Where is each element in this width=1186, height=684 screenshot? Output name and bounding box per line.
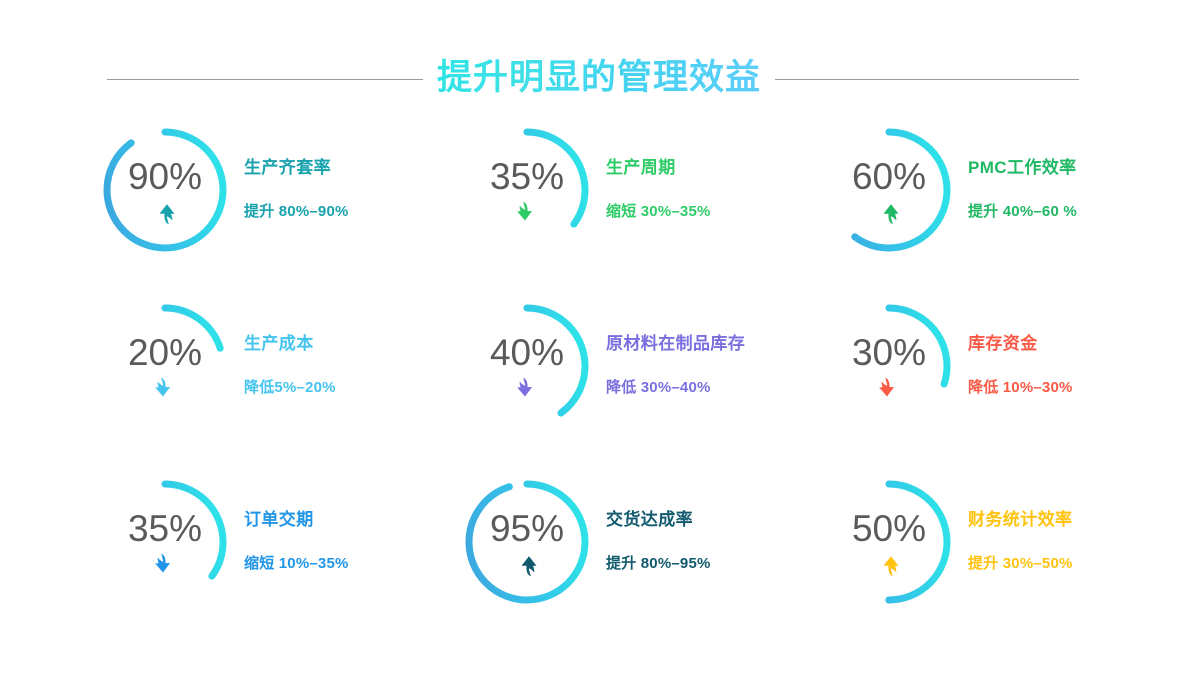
kpi-text-block: 财务统计效率 提升 30%–50% [954,470,1164,573]
kpi-gauge: 35% [462,118,592,268]
kpi-text-block: 生产成本 降低5%–20% [230,294,440,397]
arrow-up-icon [876,198,902,228]
gauge-value: 40% [490,334,564,371]
kpi-text-block: 订单交期 缩短 10%–35% [230,470,440,573]
kpi-delta: 降低 30%–40% [606,376,802,397]
page-title: 提升明显的管理效益 [437,56,761,103]
arrow-up-icon [152,198,178,228]
kpi-title: 库存资金 [968,334,1164,354]
kpi-delta: 降低 10%–30% [968,376,1164,397]
gauge-center: 30% [824,294,954,444]
gauge-center: 50% [824,470,954,620]
arrow-down-icon [514,198,540,228]
gauge-center: 95% [462,470,592,620]
gauge-value: 90% [128,158,202,195]
kpi-text-block: PMC工作效率 提升 40%–60 % [954,118,1164,221]
arrow-down-icon [514,374,540,404]
kpi-title: 生产成本 [244,334,440,354]
kpi-text-block: 原材料在制品库存 降低 30%–40% [592,294,802,397]
kpi-card: 35% 生产周期 缩短 30%–35% [462,118,802,294]
kpi-gauge: 50% [824,470,954,620]
kpi-text-block: 交货达成率 提升 80%–95% [592,470,802,573]
kpi-delta: 提升 80%–95% [606,552,802,573]
gauge-value: 35% [128,510,202,547]
arrow-down-icon [152,550,178,580]
arrow-down-icon [152,374,178,404]
kpi-delta: 缩短 10%–35% [244,552,440,573]
kpi-text-block: 生产齐套率 提升 80%–90% [230,118,440,221]
kpi-grid: 90% 生产齐套率 提升 80%–90% [0,118,1186,646]
kpi-gauge: 30% [824,294,954,444]
gauge-center: 20% [100,294,230,444]
kpi-title: 交货达成率 [606,510,802,530]
page-header: 提升明显的管理效益 [0,52,1186,106]
kpi-gauge: 90% [100,118,230,268]
kpi-title: 生产齐套率 [244,158,440,178]
kpi-text-block: 库存资金 降低 10%–30% [954,294,1164,397]
kpi-delta: 提升 40%–60 % [968,200,1164,221]
kpi-title: 订单交期 [244,510,440,530]
arrow-down-icon [876,374,902,404]
gauge-value: 60% [852,158,926,195]
kpi-text-block: 生产周期 缩短 30%–35% [592,118,802,221]
kpi-title: PMC工作效率 [968,158,1164,178]
kpi-card: 40% 原材料在制品库存 降低 30%–40% [462,294,802,470]
gauge-center: 90% [100,118,230,268]
kpi-card: 30% 库存资金 降低 10%–30% [824,294,1164,470]
kpi-card: 20% 生产成本 降低5%–20% [100,294,440,470]
kpi-gauge: 40% [462,294,592,444]
kpi-delta: 提升 30%–50% [968,552,1164,573]
gauge-center: 35% [100,470,230,620]
kpi-title: 生产周期 [606,158,802,178]
kpi-gauge: 95% [462,470,592,620]
kpi-delta: 缩短 30%–35% [606,200,802,221]
gauge-center: 60% [824,118,954,268]
kpi-title: 原材料在制品库存 [606,334,802,354]
kpi-gauge: 20% [100,294,230,444]
gauge-value: 35% [490,158,564,195]
arrow-up-icon [876,550,902,580]
gauge-value: 20% [128,334,202,371]
kpi-card: 35% 订单交期 缩短 10%–35% [100,470,440,646]
title-divider-left [107,79,423,80]
gauge-center: 40% [462,294,592,444]
kpi-gauge: 35% [100,470,230,620]
kpi-card: 90% 生产齐套率 提升 80%–90% [100,118,440,294]
kpi-gauge: 60% [824,118,954,268]
arrow-up-icon [514,550,540,580]
kpi-card: 60% PMC工作效率 提升 40%–60 % [824,118,1164,294]
gauge-value: 95% [490,510,564,547]
gauge-value: 30% [852,334,926,371]
kpi-delta: 提升 80%–90% [244,200,440,221]
kpi-card: 50% 财务统计效率 提升 30%–50% [824,470,1164,646]
title-divider-right [775,79,1079,80]
kpi-delta: 降低5%–20% [244,376,440,397]
kpi-card: 95% 交货达成率 提升 80%–95% [462,470,802,646]
gauge-value: 50% [852,510,926,547]
kpi-title: 财务统计效率 [968,510,1164,530]
gauge-center: 35% [462,118,592,268]
